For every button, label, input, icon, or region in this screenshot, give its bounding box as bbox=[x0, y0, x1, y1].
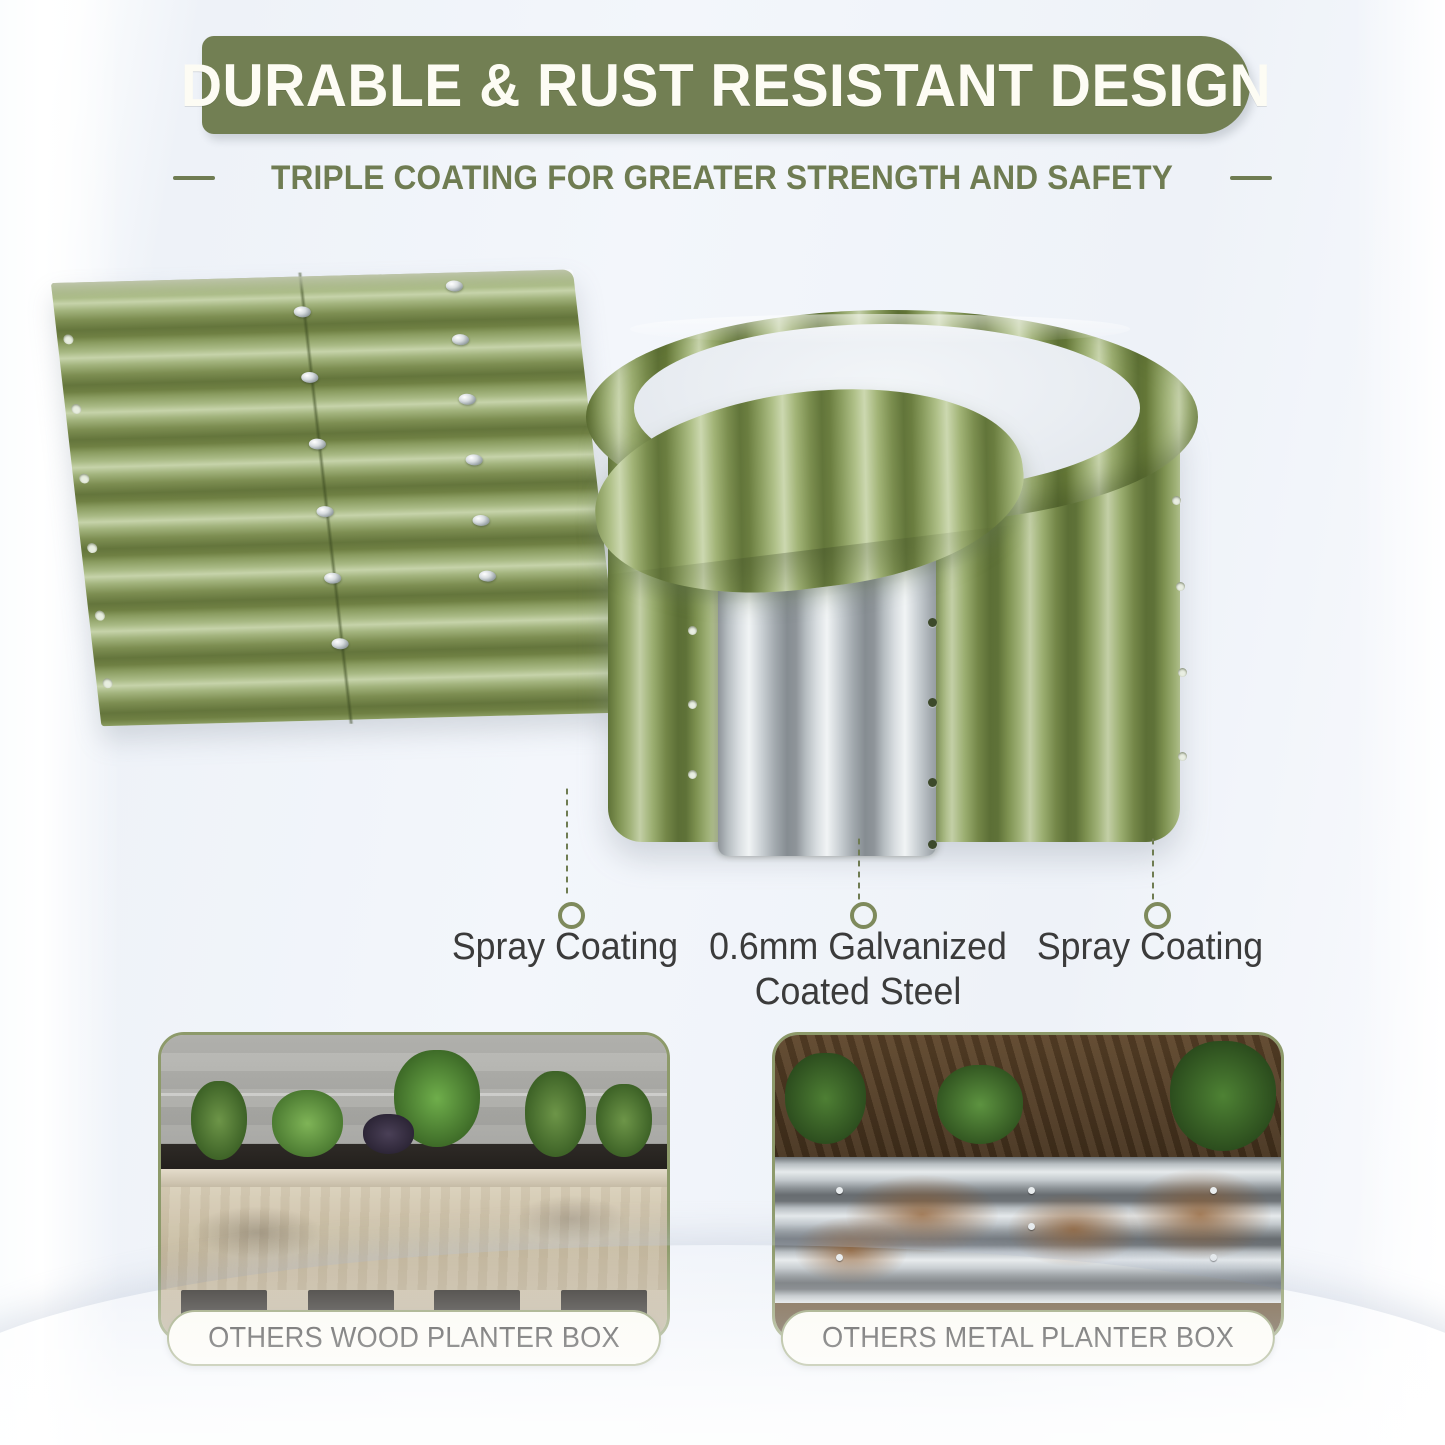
leader-line-right bbox=[1151, 836, 1155, 900]
leader-line-center bbox=[857, 836, 861, 900]
metal-rivet-1 bbox=[836, 1187, 843, 1194]
rust-stain-3 bbox=[1129, 1169, 1271, 1260]
metal-rivet-5 bbox=[1210, 1254, 1217, 1261]
leader-line-left bbox=[565, 786, 569, 898]
plant-rosemary-3 bbox=[596, 1084, 652, 1157]
infographic-page: DURABLE & RUST RESISTANT DESIGN TRIPLE C… bbox=[0, 0, 1445, 1445]
header-banner: DURABLE & RUST RESISTANT DESIGN bbox=[202, 36, 1250, 134]
plant-rosemary-1 bbox=[191, 1081, 247, 1160]
callout-label-spray-coating-left: Spray Coating bbox=[424, 925, 706, 970]
plant-pepper bbox=[785, 1053, 866, 1144]
plant-rosemary-2 bbox=[525, 1071, 586, 1156]
plant-basil-1 bbox=[272, 1090, 343, 1157]
plant-purple-basil bbox=[363, 1114, 414, 1154]
subtitle-row: TRIPLE COATING FOR GREATER STRENGTH AND … bbox=[0, 148, 1445, 208]
garden-bed-body bbox=[560, 300, 1220, 860]
plant-tomato-2 bbox=[1170, 1041, 1276, 1150]
callout-label-spray-coating-right: Spray Coating bbox=[1009, 925, 1291, 970]
rust-stain-2 bbox=[1008, 1193, 1140, 1266]
hero-product-image bbox=[60, 226, 1240, 906]
corrugated-panel bbox=[51, 269, 623, 726]
background-sheen-right bbox=[1355, 0, 1445, 1445]
callout-label-galvanized-steel: 0.6mm Galvanized Coated Steel bbox=[700, 925, 1016, 1015]
dash-right-icon bbox=[1230, 176, 1272, 180]
metal-rivet-2 bbox=[1028, 1187, 1035, 1194]
plant-tomato-1 bbox=[937, 1065, 1023, 1144]
page-subtitle: TRIPLE COATING FOR GREATER STRENGTH AND … bbox=[271, 159, 1173, 198]
page-title: DURABLE & RUST RESISTANT DESIGN bbox=[228, 36, 1224, 134]
dash-left-icon bbox=[173, 176, 215, 180]
